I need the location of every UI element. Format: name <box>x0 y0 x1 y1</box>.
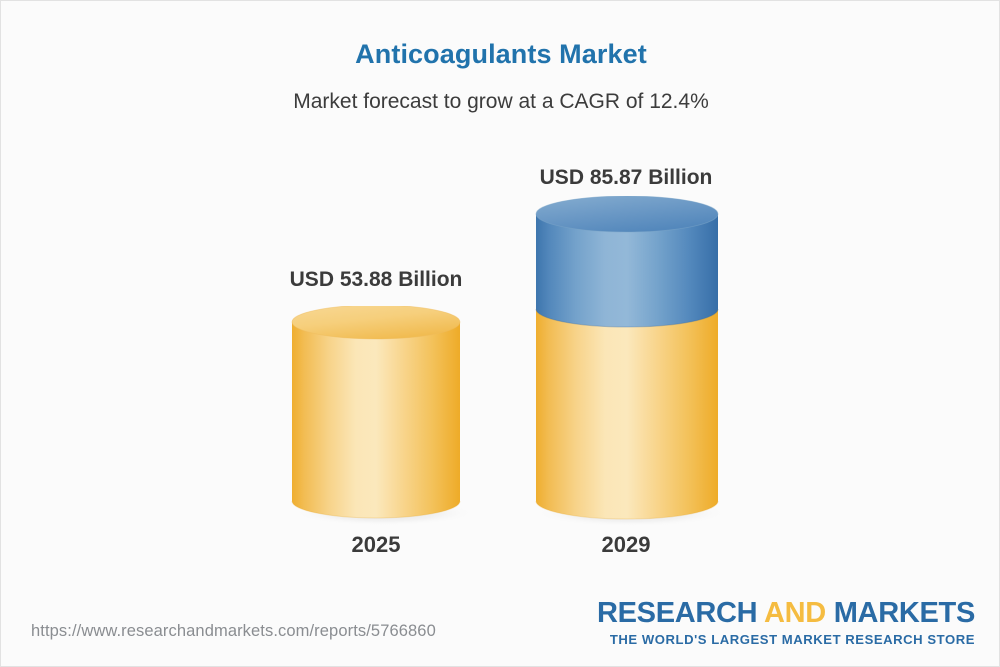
category-label-2025: 2025 <box>276 532 476 558</box>
brand-word-research: RESEARCH <box>597 597 757 629</box>
chart-subtitle: Market forecast to grow at a CAGR of 12.… <box>1 90 1000 114</box>
bar-value-label-2025: USD 53.88 Billion <box>226 268 526 292</box>
source-url[interactable]: https://www.researchandmarkets.com/repor… <box>31 622 436 641</box>
brand-wordmark: RESEARCH AND MARKETS <box>597 599 975 628</box>
bar-value-label-2029: USD 85.87 Billion <box>476 166 776 190</box>
bar-cylinder-2025 <box>284 306 474 531</box>
chart-canvas: Anticoagulants Market Market forecast to… <box>0 0 1000 667</box>
brand-tagline: THE WORLD'S LARGEST MARKET RESEARCH STOR… <box>597 633 975 646</box>
brand-logo: RESEARCH AND MARKETS THE WORLD'S LARGEST… <box>597 599 975 646</box>
category-label-2029: 2029 <box>526 532 726 558</box>
brand-word-markets: MARKETS <box>834 597 975 629</box>
brand-word-and: AND <box>757 597 833 629</box>
bar-cylinder-2029 <box>527 196 732 531</box>
page-title: Anticoagulants Market <box>1 39 1000 70</box>
